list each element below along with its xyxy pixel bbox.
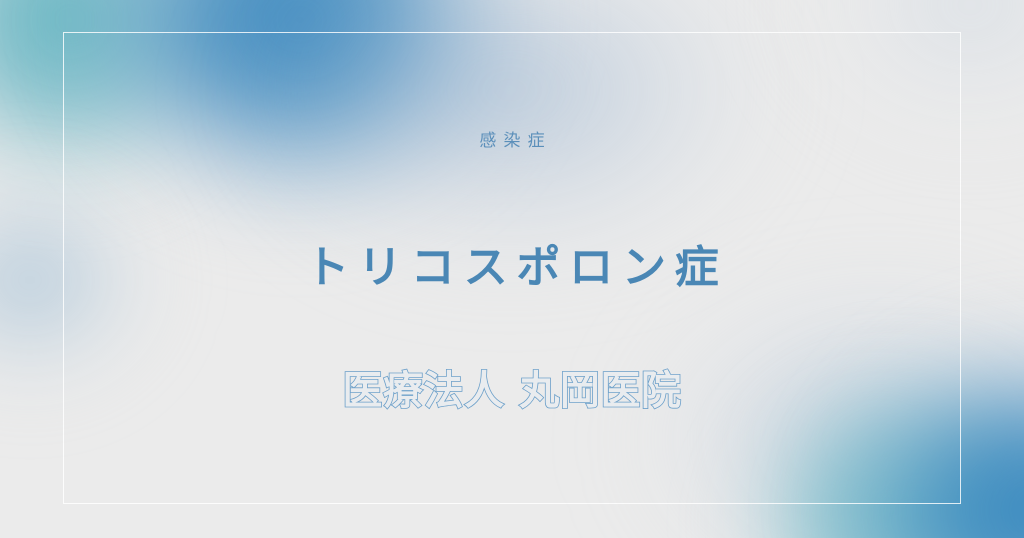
title-slide: 感染症 トリコスポロン症 医療法人 丸岡医院 [0,0,1024,538]
page-title: トリコスポロン症 [0,243,1024,292]
category-label: 感染症 [0,131,1024,151]
text-stack: 感染症 トリコスポロン症 医療法人 丸岡医院 [0,0,1024,538]
organization-name: 医療法人 丸岡医院 [0,369,1024,414]
